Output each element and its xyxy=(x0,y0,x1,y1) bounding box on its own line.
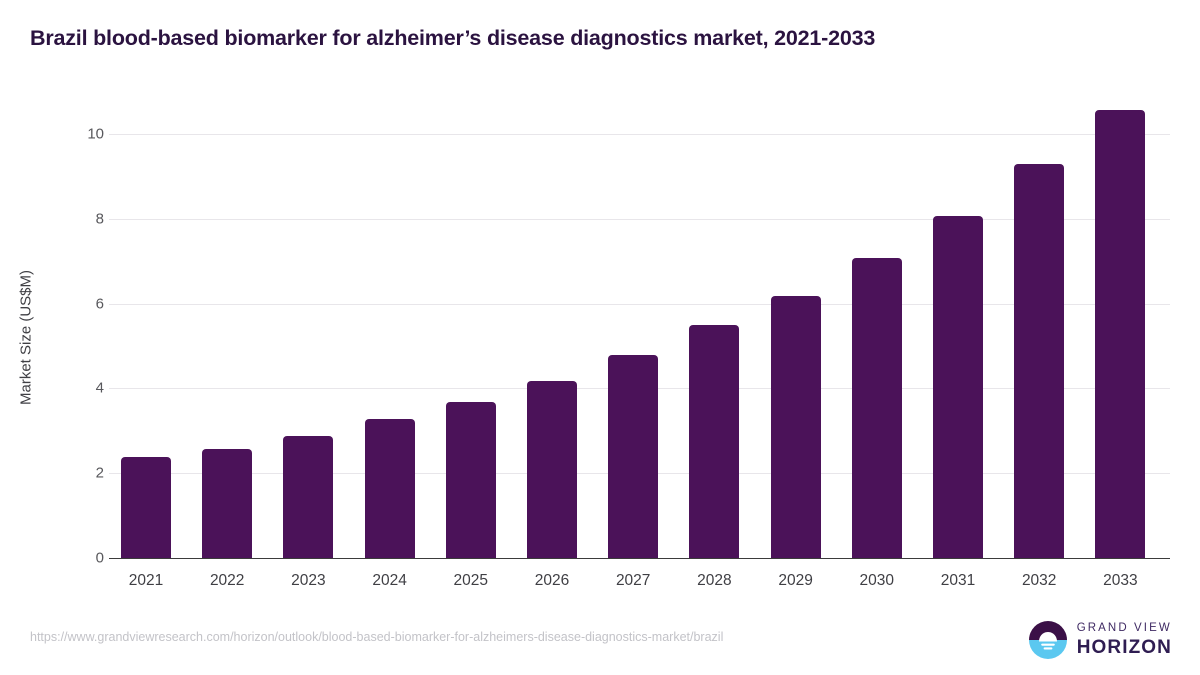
bar[interactable] xyxy=(1014,164,1064,558)
x-axis-tick-label: 2028 xyxy=(674,572,754,590)
logo-line-horizon: HORIZON xyxy=(1077,638,1172,657)
bar[interactable] xyxy=(121,457,171,558)
x-axis-tick-label: 2033 xyxy=(1080,572,1160,590)
x-axis-tick-label: 2031 xyxy=(918,572,998,590)
logo-line-grand-view: GRAND VIEW xyxy=(1077,623,1172,635)
horizon-circle-icon xyxy=(1028,620,1068,660)
x-axis-tick-label: 2023 xyxy=(268,572,348,590)
bar[interactable] xyxy=(527,381,577,558)
x-axis-tick-label: 2024 xyxy=(350,572,430,590)
logo-wordmark: GRAND VIEW HORIZON xyxy=(1077,623,1172,657)
x-axis-tick-label: 2026 xyxy=(512,572,592,590)
x-axis-tick-label: 2032 xyxy=(999,572,1079,590)
bar[interactable] xyxy=(608,355,658,558)
y-axis-title: Market Size (US$M) xyxy=(18,228,35,448)
bar[interactable] xyxy=(365,419,415,558)
bar[interactable] xyxy=(689,325,739,558)
x-axis-tick-label: 2030 xyxy=(837,572,917,590)
x-axis-tick-label: 2025 xyxy=(431,572,511,590)
source-url-text: https://www.grandviewresearch.com/horizo… xyxy=(30,630,723,644)
x-axis-tick-label: 2021 xyxy=(106,572,186,590)
x-axis-tick-label: 2027 xyxy=(593,572,673,590)
y-axis-tick-label: 10 xyxy=(44,125,104,142)
chart-plot-frame: 0246810 Market Size (US$M) 2021202220232… xyxy=(0,0,1200,675)
y-axis-tick-label: 6 xyxy=(44,295,104,312)
bar[interactable] xyxy=(283,436,333,558)
bars-container xyxy=(121,100,1170,558)
bar[interactable] xyxy=(771,296,821,559)
y-axis-tick-label: 8 xyxy=(44,210,104,227)
bar[interactable] xyxy=(446,402,496,558)
y-axis-tick-label: 2 xyxy=(44,465,104,482)
chart-page: Brazil blood-based biomarker for alzheim… xyxy=(0,0,1200,675)
x-axis-tick-label: 2022 xyxy=(187,572,267,590)
bar[interactable] xyxy=(202,449,252,558)
y-axis-tick-label: 4 xyxy=(44,380,104,397)
grand-view-horizon-logo: GRAND VIEW HORIZON xyxy=(1028,618,1172,662)
bar[interactable] xyxy=(1095,110,1145,558)
x-axis-tick-label: 2029 xyxy=(756,572,836,590)
bar[interactable] xyxy=(933,216,983,558)
bar[interactable] xyxy=(852,258,902,558)
y-axis-tick-label: 0 xyxy=(44,550,104,567)
